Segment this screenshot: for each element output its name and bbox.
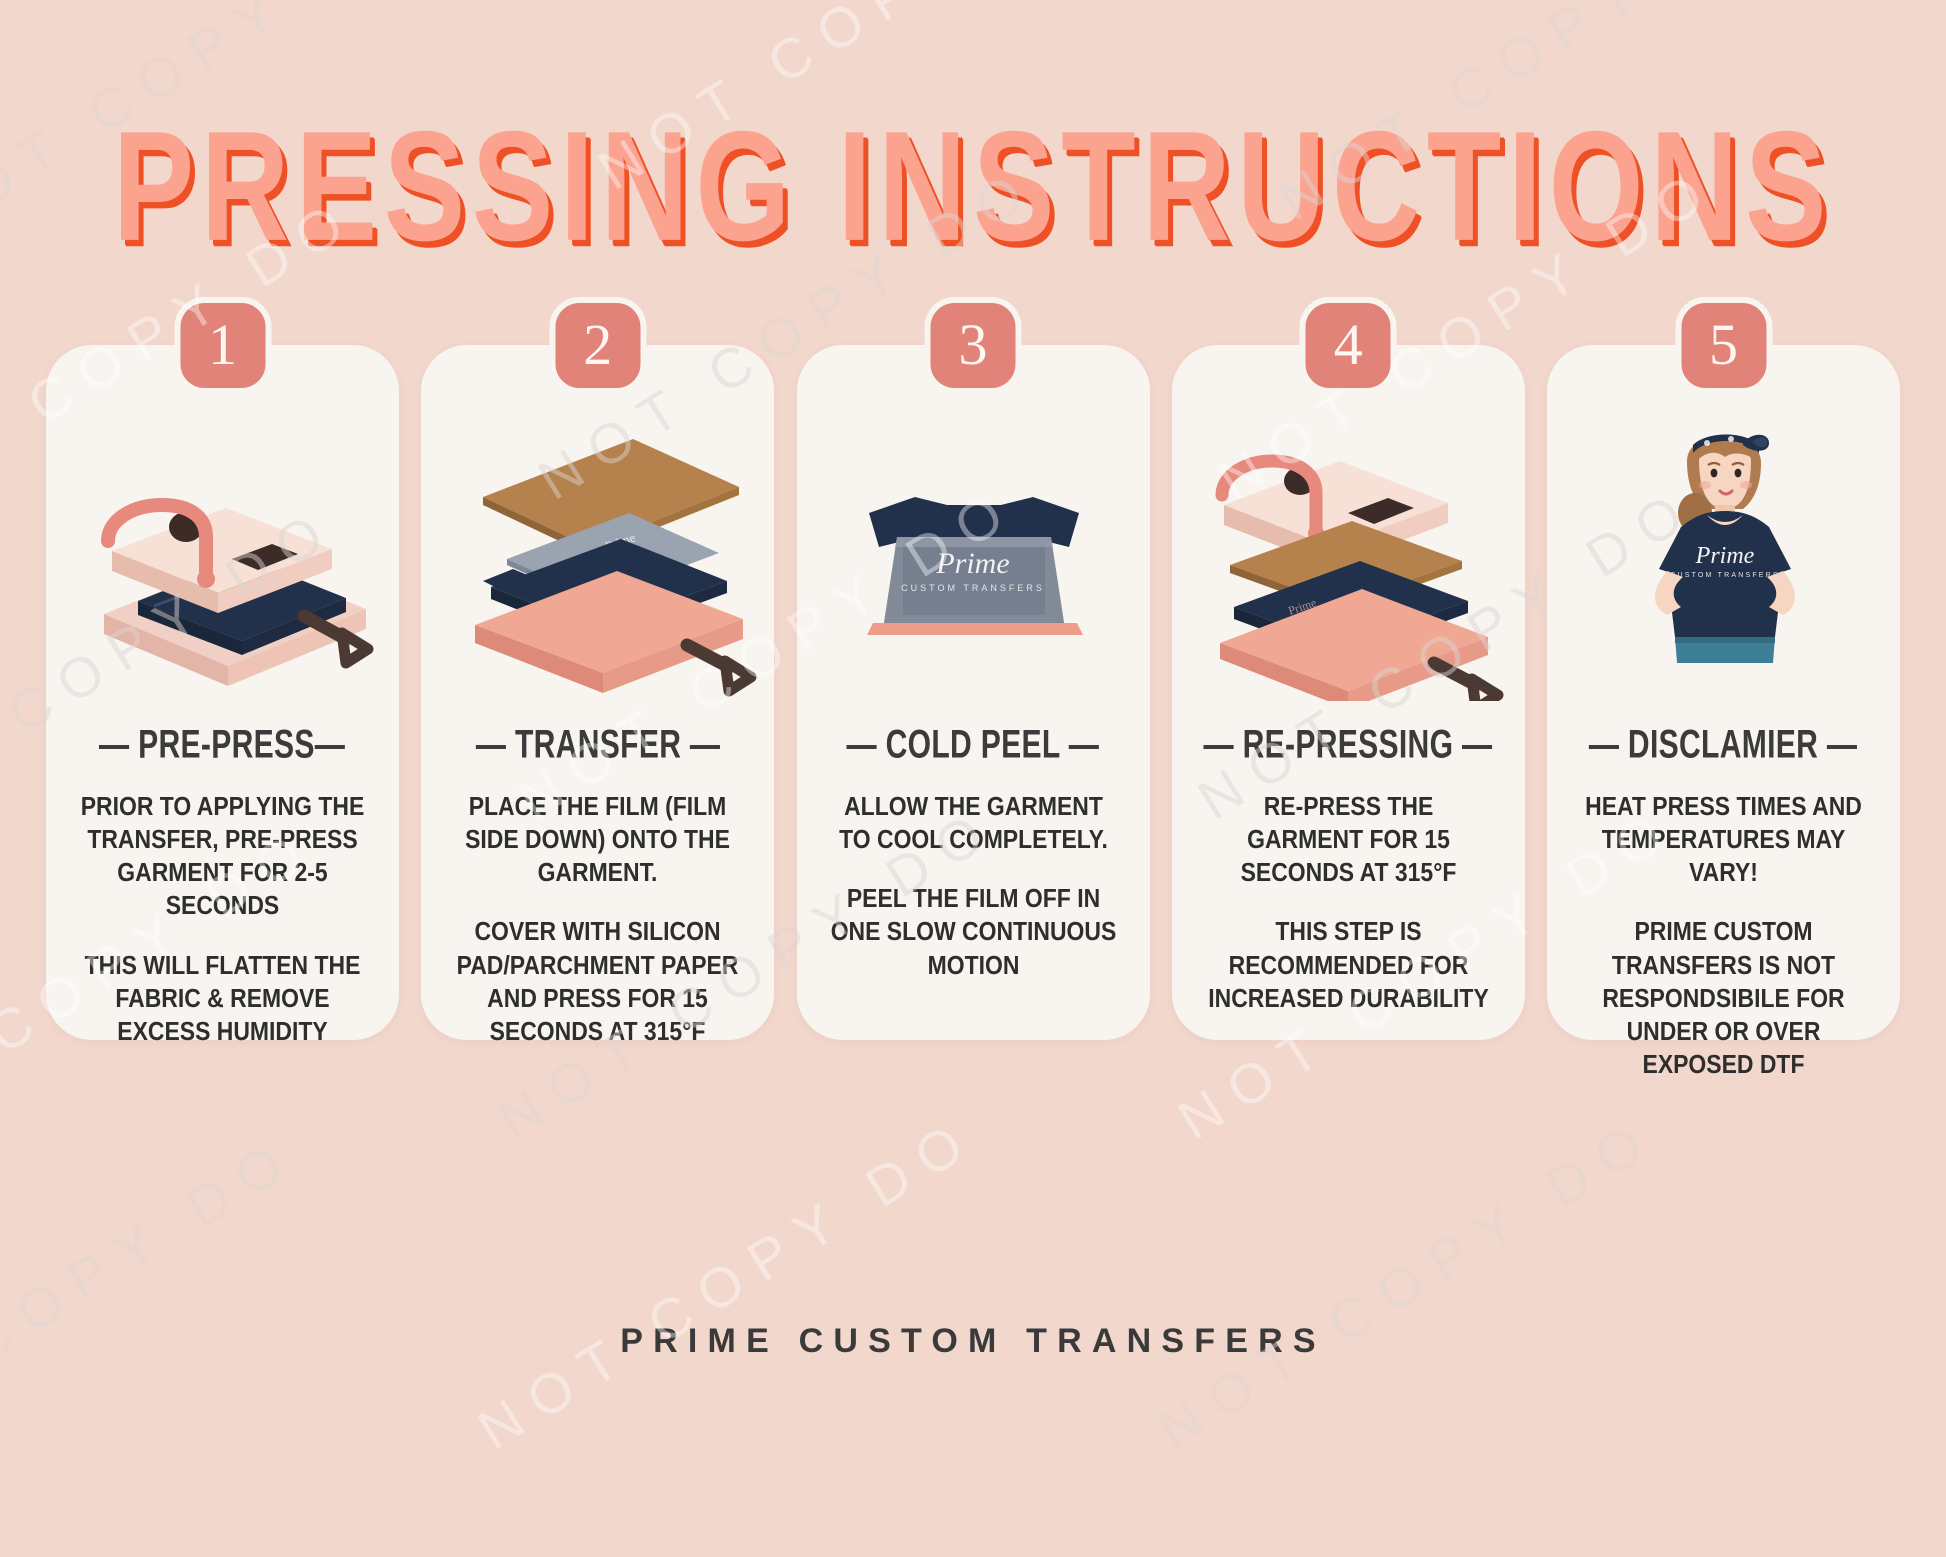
step-paragraph: PEEL THE FILM OFF IN ONE SLOW CONTINUOUS… [829,883,1118,982]
step-number-1: 1 [208,316,237,374]
tee-logo-sub: CUSTOM TRANSFERS [1670,572,1780,579]
watermark-text: NOT COPY DO [0,1123,308,1483]
step-body-1: PRIOR TO APPLYING THE TRANSFER, PRE-PRES… [64,791,382,1049]
page-title: PRESSING INSTRUCTIONS [113,108,1833,264]
step-paragraph: PRIOR TO APPLYING THE TRANSFER, PRE-PRES… [78,791,367,924]
step-number-badge-1: 1 [174,297,271,394]
poster-canvas: NOT COPY DONOT COPY DONOT COPY DONOT COP… [0,0,1946,1557]
step-number-3: 3 [959,316,988,374]
step-card-4[interactable]: 4 [1172,345,1525,1040]
step-number-5: 5 [1709,316,1738,374]
step-body-5: HEAT PRESS TIMES AND TEMPERATURES MAY VA… [1565,791,1883,1082]
step-card-1[interactable]: 1 [46,345,399,1040]
step-number-badge-3: 3 [925,297,1022,394]
step-body-2: PLACE THE FILM (FILM SIDE DOWN) ONTO THE… [439,791,757,1049]
footer-brand: PRIME CUSTOM TRANSFERS [0,1322,1946,1361]
step-heading-3: — COLD PEEL — [847,722,1100,768]
step-body-3: ALLOW THE GARMENT TO COOL COMPLETELY. PE… [814,791,1132,983]
step-heading-2: — TRANSFER — [476,722,720,768]
step-paragraph: HEAT PRESS TIMES AND TEMPERATURES MAY VA… [1579,791,1868,890]
step-paragraph: COVER WITH SILICON PAD/PARCHMENT PAPER A… [453,916,742,1049]
step-paragraph: ALLOW THE GARMENT TO COOL COMPLETELY. [829,791,1118,857]
tshirt-cold-peel-illustration: Prime CUSTOM TRANSFERS [797,401,1150,701]
step-heading-5: — DISCLAMIER — [1589,722,1857,768]
step-number-badge-4: 4 [1300,297,1397,394]
step-number-4: 4 [1334,316,1363,374]
woman-model-illustration: Prime CUSTOM TRANSFERS [1547,401,1900,701]
step-paragraph: PLACE THE FILM (FILM SIDE DOWN) ONTO THE… [453,791,742,890]
step-number-badge-2: 2 [549,297,646,394]
step-paragraph: RE-PRESS THE GARMENT FOR 15 SECONDS AT 3… [1204,791,1493,890]
transfer-layers-illustration: Prime [421,401,774,701]
watermark-text: NOT COPY DO [1146,1103,1668,1463]
watermark-text: NOT COPY DO [466,1103,988,1463]
shirt-logo-sub: CUSTOM TRANSFERS [901,583,1045,593]
step-heading-4: — RE-PRESSING — [1204,722,1493,768]
watermark-text: NOT COPY DO [0,1123,308,1483]
steps-row: 1 [46,345,1900,1040]
step-number-badge-5: 5 [1675,297,1772,394]
step-card-5[interactable]: 5 [1547,345,1900,1040]
step-paragraph: PRIME CUSTOM TRANSFERS IS NOT RESPONDSIB… [1579,916,1868,1082]
step-paragraph: THIS STEP IS RECOMMENDED FOR INCREASED D… [1204,916,1493,1015]
title-container: PRESSING INSTRUCTIONS [0,108,1946,230]
step-card-3[interactable]: 3 Prime CUSTOM TRANSFERS — COLD PEEL — [797,345,1150,1040]
watermark-text: NOT COPY DO [1146,1103,1668,1463]
step-body-4: RE-PRESS THE GARMENT FOR 15 SECONDS AT 3… [1189,791,1507,1016]
step-card-2[interactable]: 2 Prime [421,345,774,1040]
shirt-logo-brand: Prime [935,547,1009,580]
repress-illustration: Prime [1172,401,1525,701]
step-number-2: 2 [583,316,612,374]
step-heading-1: — PRE-PRESS— [99,722,345,768]
step-paragraph: THIS WILL FLATTEN THE FABRIC & REMOVE EX… [78,950,367,1049]
tee-logo-brand: Prime [1695,543,1755,569]
heat-press-illustration [46,401,399,701]
